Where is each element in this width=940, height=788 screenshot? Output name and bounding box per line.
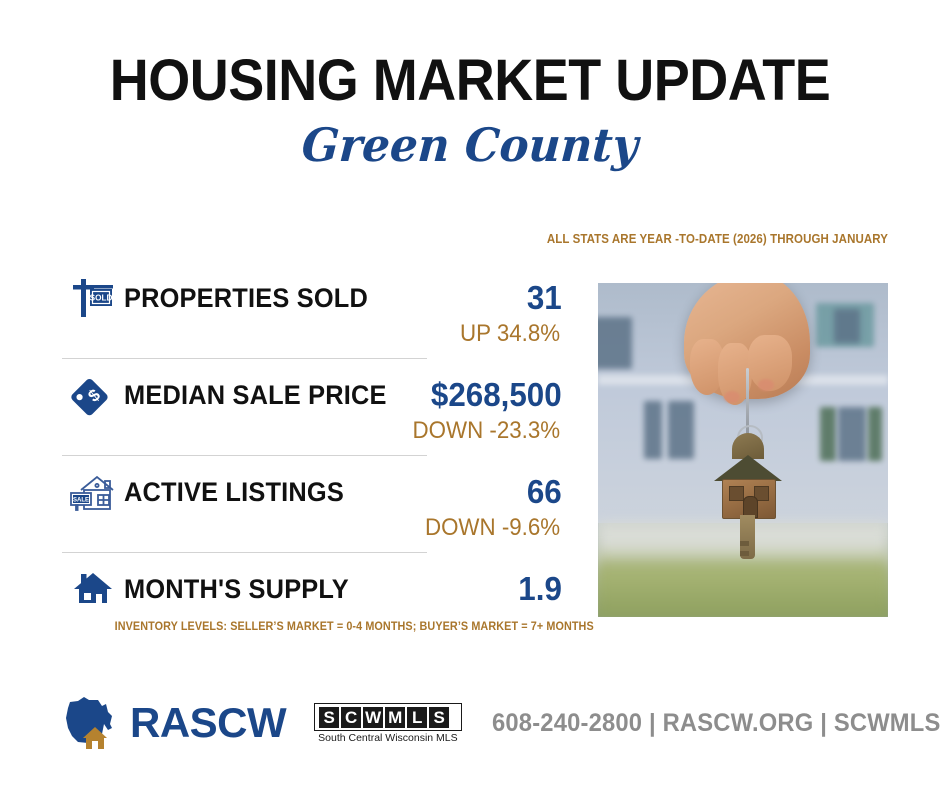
scwmls-letter: C xyxy=(341,707,361,728)
infographic-page: HOUSING MARKET UPDATE Green County ALL S… xyxy=(0,0,940,788)
house-for-sale-icon: SALE xyxy=(62,470,124,514)
photo-window xyxy=(868,407,882,461)
keychain-body xyxy=(722,479,776,519)
stat-change: UP 34.8% xyxy=(97,322,562,346)
photo-window xyxy=(668,401,694,459)
sold-sign-icon: SOLD xyxy=(62,277,124,319)
svg-text:SALE: SALE xyxy=(73,497,89,503)
stat-value: 31 xyxy=(527,279,562,317)
page-title: HOUSING MARKET UPDATE xyxy=(33,52,907,110)
stat-label: ACTIVE LISTINGS xyxy=(124,477,501,508)
stat-row-active-listings: SALE ACTIVE LISTINGS 66 DOWN -9.6% xyxy=(62,466,562,553)
hand-holding-house-key-photo xyxy=(598,283,888,617)
scwmls-letter: M xyxy=(385,707,405,728)
scwmls-letter: S xyxy=(319,707,339,728)
price-tag-icon: $ xyxy=(62,374,124,416)
keychain-window xyxy=(729,486,744,501)
stat-row-months-supply: MONTH'S SUPPLY 1.9 INVENTORY LEVELS: SEL… xyxy=(62,563,562,633)
row-divider xyxy=(62,552,427,553)
key-tooth xyxy=(740,551,749,556)
stats-list: SOLD PROPERTIES SOLD 31 UP 34.8% xyxy=(62,272,562,633)
scwmls-subtitle: South Central Wisconsin MLS xyxy=(318,732,457,744)
stat-label: PROPERTIES SOLD xyxy=(124,283,501,314)
footer: RASCW S C W M L S South Central Wisconsi… xyxy=(0,694,940,752)
photo-window xyxy=(820,407,836,461)
inventory-levels-note: INVENTORY LEVELS: SELLER’S MARKET = 0-4 … xyxy=(77,621,547,633)
stat-row-median-sale-price: $ MEDIAN SALE PRICE $268,500 DOWN -23.3% xyxy=(62,369,562,456)
row-divider xyxy=(62,455,427,456)
photo-fingernail xyxy=(724,391,740,403)
scwmls-logo[interactable]: S C W M L S South Central Wisconsin MLS xyxy=(314,703,461,744)
contact-info[interactable]: 608-240-2800 | RASCW.ORG | SCWMLS.COM xyxy=(492,709,940,738)
header: HOUSING MARKET UPDATE Green County xyxy=(0,0,940,168)
stat-label: MONTH'S SUPPLY xyxy=(124,574,493,605)
wisconsin-state-icon xyxy=(58,694,120,752)
stat-change: DOWN -23.3% xyxy=(97,419,562,443)
row-divider xyxy=(62,358,427,359)
photo-fingernail xyxy=(758,379,774,391)
page-subtitle: Green County xyxy=(22,122,918,168)
stat-value: 1.9 xyxy=(518,570,562,608)
scwmls-subtitle-row: South Central Wisconsin MLS xyxy=(314,732,461,744)
photo-window xyxy=(834,309,860,343)
stat-change: DOWN -9.6% xyxy=(97,516,562,540)
photo-house-keychain xyxy=(714,433,782,529)
stats-disclaimer: ALL STATS ARE YEAR -TO-DATE (2026) THROU… xyxy=(71,232,888,246)
photo-window xyxy=(598,317,632,369)
photo-window xyxy=(644,401,662,459)
house-icon xyxy=(62,569,124,609)
stat-label: MEDIAN SALE PRICE xyxy=(124,380,406,411)
key-tooth xyxy=(740,541,749,546)
stat-value: $268,500 xyxy=(431,376,562,414)
rascw-wordmark: RASCW xyxy=(130,702,286,744)
scwmls-letter: W xyxy=(363,707,383,728)
stat-row-properties-sold: SOLD PROPERTIES SOLD 31 UP 34.8% xyxy=(62,272,562,359)
scwmls-letter: S xyxy=(429,707,449,728)
svg-text:SOLD: SOLD xyxy=(90,294,113,303)
rascw-logo[interactable]: RASCW xyxy=(58,694,286,752)
scwmls-letter-box: S C W M L S xyxy=(314,703,461,731)
keychain-roof xyxy=(714,455,782,481)
stat-value: 66 xyxy=(527,473,562,511)
photo-window xyxy=(838,407,866,461)
scwmls-letter: L xyxy=(407,707,427,728)
